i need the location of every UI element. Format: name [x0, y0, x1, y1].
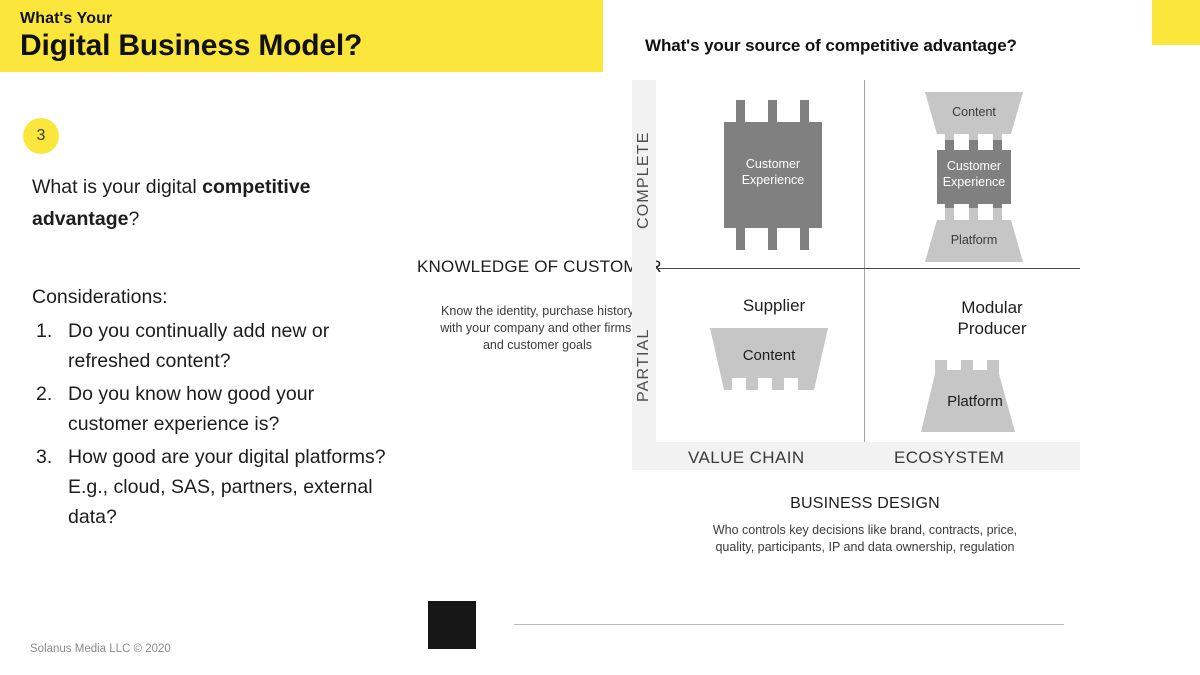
- considerations-list: 1. Do you continually add new or refresh…: [32, 316, 392, 535]
- x-axis-description: Who controls key decisions like brand, c…: [700, 522, 1030, 556]
- matrix-title: What's your source of competitive advant…: [645, 36, 1017, 56]
- business-model-matrix: COMPLETE PARTIAL VALUE CHAIN ECOSYSTEM S…: [632, 80, 1080, 470]
- shape-omnichannel-customer-experience: Customer Experience: [718, 100, 828, 250]
- corner-accent-square: [1152, 0, 1200, 45]
- quadrant-label-supplier: Supplier: [714, 296, 834, 317]
- stacked-trapezoid-chip-icon: [919, 92, 1029, 262]
- shape-ecosystem-driver-stack: Content Customer Experience Platform: [919, 92, 1029, 262]
- lead-question: What is your digital competitive advanta…: [32, 172, 382, 235]
- list-item-number: 2.: [36, 379, 52, 409]
- trapezoid-up-icon: [915, 360, 1035, 432]
- page-title: Digital Business Model?: [20, 30, 603, 62]
- slide: What's Your Digital Business Model? 3 Wh…: [0, 0, 1200, 675]
- y-axis-tick-complete: COMPLETE: [632, 90, 656, 270]
- list-item-number: 1.: [36, 316, 52, 346]
- y-axis-tick-partial: PARTIAL: [632, 290, 656, 440]
- title-banner: What's Your Digital Business Model?: [0, 0, 603, 72]
- list-item-text: Do you continually add new or refreshed …: [68, 320, 329, 372]
- trapezoid-down-icon: [694, 328, 844, 406]
- y-axis-label: KNOWLEDGE OF CUSTOMER: [417, 257, 662, 277]
- list-item: 3. How good are your digital platforms? …: [32, 442, 392, 533]
- list-item: 1. Do you continually add new or refresh…: [32, 316, 392, 377]
- footer-divider: [514, 624, 1064, 625]
- step-badge: 3: [23, 118, 59, 154]
- footer-black-square: [428, 601, 476, 649]
- list-item-text: Do you know how good your customer exper…: [68, 383, 314, 435]
- y-axis-description: Know the identity, purchase history with…: [440, 303, 635, 353]
- list-item-text: How good are your digital platforms? E.g…: [68, 446, 386, 529]
- matrix-horizontal-divider: [656, 268, 1080, 269]
- shape-modular-producer-platform: Platform: [915, 360, 1035, 432]
- x-axis-label: BUSINESS DESIGN: [700, 495, 1030, 513]
- lead-suffix: ?: [128, 208, 139, 230]
- matrix-vertical-divider: [864, 80, 865, 442]
- x-axis-tick-value-chain: VALUE CHAIN: [688, 448, 805, 468]
- x-axis-tick-ecosystem: ECOSYSTEM: [894, 448, 1004, 468]
- considerations-heading: Considerations:: [32, 286, 168, 309]
- list-item-number: 3.: [36, 442, 52, 472]
- copyright-text: Solanus Media LLC © 2020: [30, 643, 171, 655]
- chip-icon: [718, 100, 828, 250]
- title-eyebrow: What's Your: [20, 11, 603, 28]
- list-item: 2. Do you know how good your customer ex…: [32, 379, 392, 440]
- shape-supplier-content: Content: [694, 328, 844, 406]
- lead-prefix: What is your digital: [32, 176, 202, 198]
- quadrant-label-modular-producer: Modular Producer: [932, 298, 1052, 339]
